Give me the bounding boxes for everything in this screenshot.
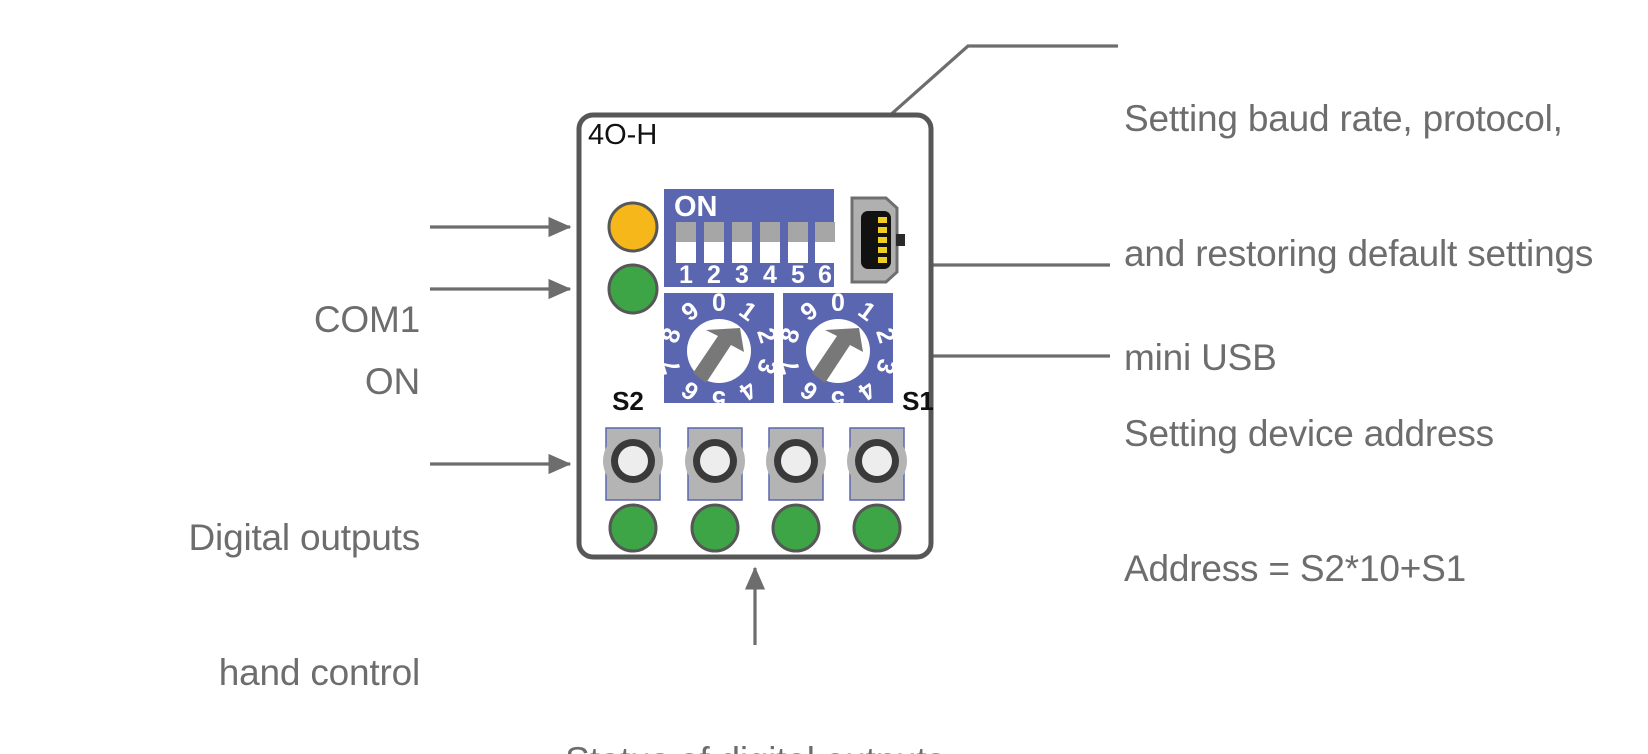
- output-button-3[interactable]: [766, 428, 826, 500]
- dip-switch-number-4: 4: [763, 261, 777, 289]
- rotary-s2-digit-0: 0: [712, 289, 726, 317]
- board-part-label: 4O-H: [588, 119, 657, 151]
- rotary-s2-digit-5: 5: [712, 385, 726, 413]
- dip-switch-toggle-6[interactable]: [815, 222, 835, 263]
- dip-switch-on-label: ON: [674, 191, 718, 223]
- callout-hand-control-line2: hand control: [60, 650, 420, 695]
- mini-usb-tab: [896, 234, 905, 246]
- mini-usb-pin-1: [878, 217, 887, 223]
- mini-usb-pin-4: [878, 247, 887, 253]
- output-button-1[interactable]: [603, 428, 663, 500]
- output-button-4[interactable]: [847, 428, 907, 500]
- dip-switch-toggle-4[interactable]: [760, 222, 780, 263]
- rotary-s1-digit-5: 5: [831, 385, 845, 413]
- dip-switch-toggle-5[interactable]: [788, 222, 808, 263]
- dip-switch-toggle-2[interactable]: [704, 222, 724, 263]
- output-led-2: [692, 505, 738, 551]
- dip-switch-toggle-1[interactable]: [676, 222, 696, 263]
- callout-on-line1: ON: [120, 359, 420, 404]
- dip-switch-number-6: 6: [818, 261, 832, 289]
- dip-switch-number-3: 3: [735, 261, 749, 289]
- callout-hand-control-line1: Digital outputs: [60, 515, 420, 560]
- output-led-4: [854, 505, 900, 551]
- callout-address-line1: Setting device address: [1124, 411, 1584, 456]
- callout-address-line2: Address = S2*10+S1: [1124, 546, 1584, 591]
- mini-usb-pin-5: [878, 257, 887, 263]
- mini-usb-pin-3: [878, 237, 887, 243]
- callout-dip-switch-line1: Setting baud rate, protocol,: [1124, 96, 1624, 141]
- dip-switch-toggle-3[interactable]: [732, 222, 752, 263]
- output-button-2[interactable]: [685, 428, 745, 500]
- dip-switch-number-5: 5: [791, 261, 805, 289]
- led-on: [609, 265, 657, 313]
- led-com1: [609, 203, 657, 251]
- rotary-switch-s1-label: S1: [902, 386, 934, 416]
- callout-hand-control: Digital outputs hand control: [60, 425, 420, 754]
- rotary-s1-digit-0: 0: [831, 289, 845, 317]
- dip-switch-number-1: 1: [679, 261, 693, 289]
- dip-switch-number-2: 2: [707, 261, 721, 289]
- mini-usb-pin-2: [878, 227, 887, 233]
- callout-output-status: Status of digital outputs: [505, 648, 1005, 754]
- diagram-canvas: 4O-H ON 1 2 3 4 5 6 0 1 2 3 4 5 6 7 8 9 …: [0, 0, 1648, 754]
- output-led-3: [773, 505, 819, 551]
- output-led-1: [610, 505, 656, 551]
- mini-usb-connector[interactable]: [852, 198, 905, 282]
- rotary-switch-s2-label: S2: [612, 386, 644, 416]
- callout-address: Setting device address Address = S2*10+S…: [1124, 321, 1584, 681]
- callout-output-status-line1: Status of digital outputs: [505, 738, 1005, 754]
